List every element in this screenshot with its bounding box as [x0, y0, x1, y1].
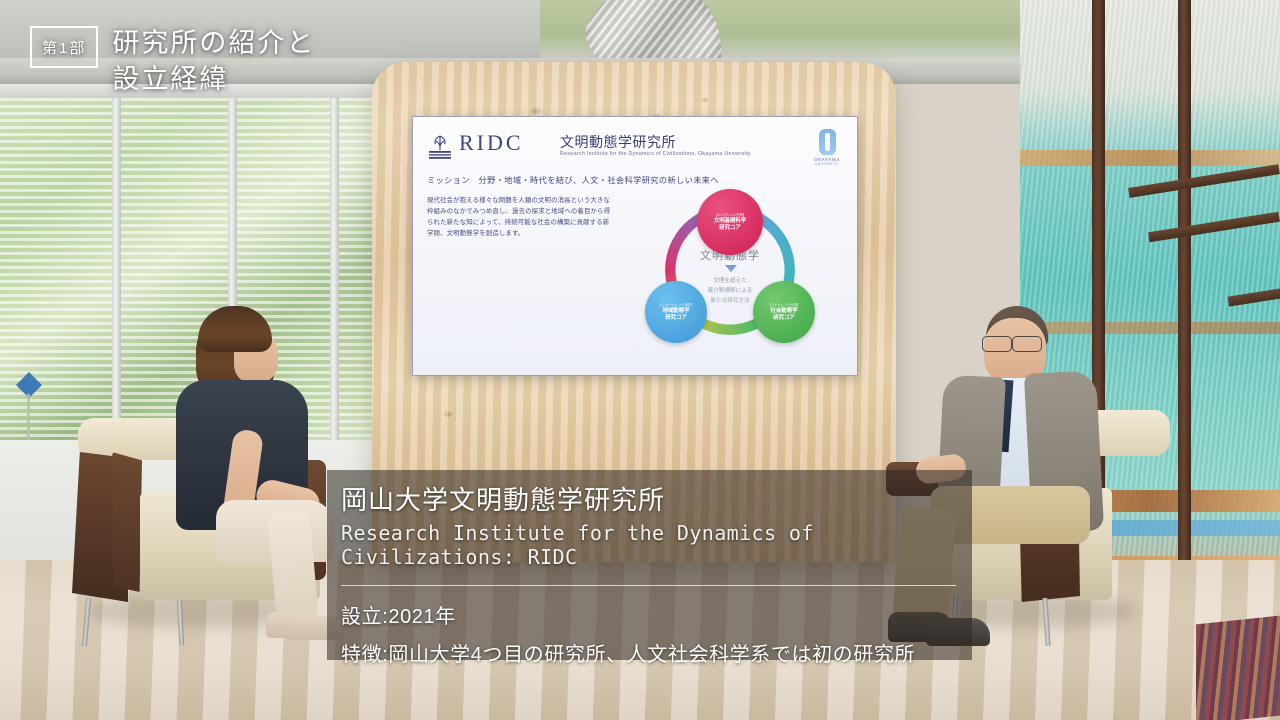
node-label-2: 研究コア — [773, 315, 795, 322]
chapter-title-line-1: 研究所の紹介と — [112, 26, 315, 62]
ridc-logo-icon — [427, 133, 453, 161]
chapter-overlay: 第1部 研究所の紹介と 設立経緯 — [30, 26, 315, 97]
institute-name-jp: 文明動態学研究所 — [560, 132, 676, 152]
lower-third-detail-2: 特徴:岡山大学4つ目の研究所、人文社会科学系では初の研究所 — [341, 638, 958, 667]
institute-name-en: Research Institute for the Dynamics of C… — [560, 151, 751, 157]
wall-slat-vertical — [1178, 0, 1191, 620]
chapter-badge: 第1部 — [30, 26, 98, 68]
diagram-node-civilization-basic-science[interactable]: 【ロングレンジ分析】 文明基礎科学 研究コア — [697, 189, 763, 255]
chapter-title: 研究所の紹介と 設立経緯 — [112, 26, 315, 97]
okayama-label-2: UNIVERSITY — [813, 162, 841, 166]
lower-third-detail-1: 設立:2021年 — [341, 600, 958, 629]
lower-third-content: 岡山大学文明動態学研究所 Research Institute for the … — [341, 480, 958, 676]
node-tag: 【ミドルレンジ分析】 — [768, 302, 800, 307]
lower-third-overlay: 岡山大学文明動態学研究所 Research Institute for the … — [327, 470, 972, 660]
glasses-icon — [982, 336, 1012, 352]
chapter-badge-label: 第1部 — [42, 37, 86, 58]
chair-armrest — [112, 452, 142, 592]
chapter-title-line-2: 設立経緯 — [112, 62, 315, 98]
node-tag: 【ロングレンジ分析】 — [714, 212, 746, 217]
ridc-wordmark: RIDC — [459, 130, 524, 156]
okayama-mark-icon — [819, 129, 836, 155]
video-frame: RIDC 文明動態学研究所 Research Institute for the… — [0, 0, 1280, 720]
floor-rug — [1196, 616, 1280, 720]
divider — [341, 585, 956, 586]
diagram-node-social-dynamics[interactable]: 【ミドルレンジ分析】 社会動態学 研究コア — [753, 281, 815, 343]
node-tag: 【ショートレンジ分析】 — [658, 302, 693, 307]
node-label-2: 研究コア — [665, 315, 687, 322]
mural-band — [1020, 150, 1280, 166]
lower-third-title-jp: 岡山大学文明動態学研究所 — [341, 480, 958, 517]
okayama-university-logo: OKAYAMA UNIVERSITY — [813, 129, 841, 166]
mural-band — [1020, 322, 1280, 334]
node-label-1: 文明基礎科学 — [714, 218, 746, 225]
node-label-1: 社会動態学 — [771, 308, 798, 315]
down-triangle-icon — [725, 265, 737, 272]
node-label-1: 地域動態学 — [663, 308, 690, 315]
glasses-icon — [1012, 336, 1042, 352]
diagram-node-regional-dynamics[interactable]: 【ショートレンジ分析】 地域動態学 研究コア — [645, 281, 707, 343]
slide-body-text: 現代社会が抱える様々な問題を人類の文明の消長という大きな枠組みのなかでみつめ直し… — [427, 195, 613, 239]
slide-header: RIDC 文明動態学研究所 Research Institute for the… — [427, 127, 845, 169]
lower-third-title-en: Research Institute for the Dynamics of C… — [341, 521, 958, 569]
presentation-screen[interactable]: RIDC 文明動態学研究所 Research Institute for the… — [412, 116, 858, 376]
slide-mission-line: ミッション 分野・地域・時代を結び、人文・社会科学研究の新しい未来へ — [427, 174, 719, 186]
research-core-diagram: 文明動態学 文理を超えた 異分野横断による 新たな研究方法 【ロングレンジ分析】… — [631, 189, 831, 365]
node-label-2: 研究コア — [719, 225, 741, 232]
center-sub-line-1: 文理を超えた — [683, 277, 777, 287]
